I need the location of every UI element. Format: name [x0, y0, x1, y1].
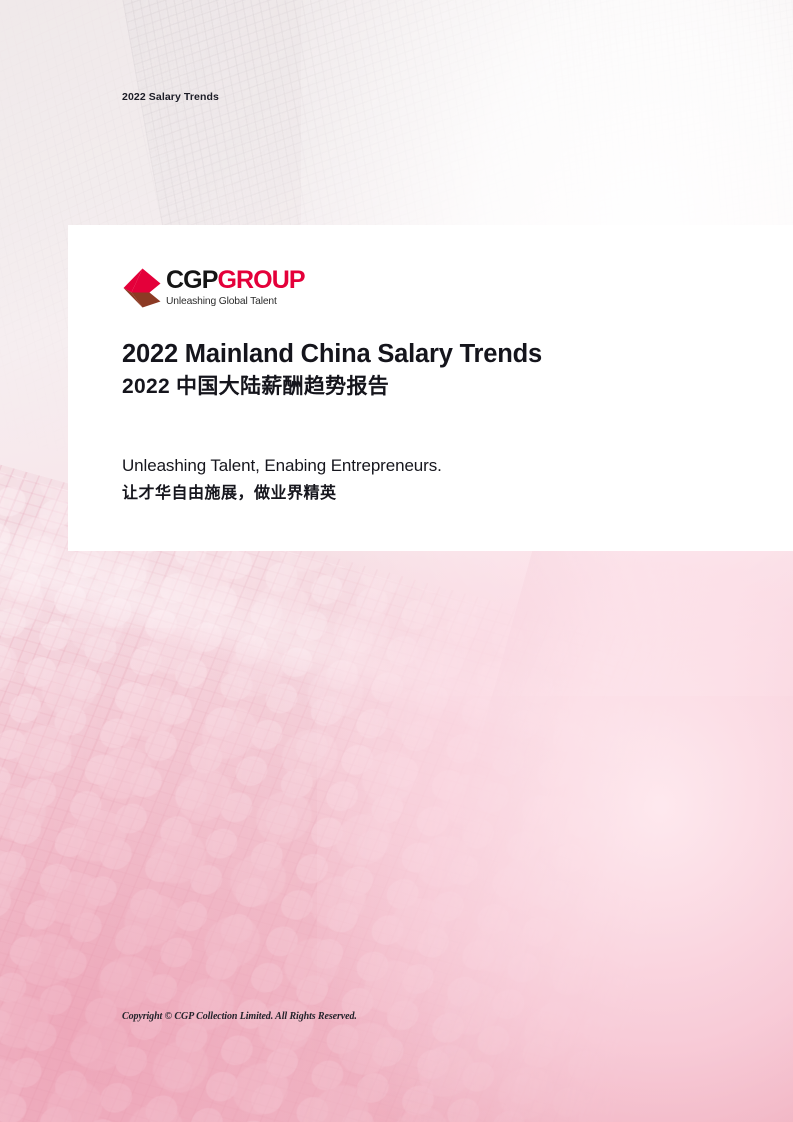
cover-tagline-english: Unleashing Talent, Enabing Entrepreneurs…	[122, 455, 442, 478]
logo-word-row: CGPGROUP	[166, 268, 305, 293]
logo-wordmark: CGPGROUP Unleashing Global Talent	[166, 266, 305, 307]
cgp-chevron-mark-icon	[122, 267, 162, 309]
logo-tagline: Unleashing Global Talent	[166, 297, 305, 307]
logo-word-cgp: CGP	[166, 266, 217, 294]
background-right-pink-wash	[317, 494, 793, 1122]
logo-word-group: GROUP	[217, 266, 304, 294]
cover-tagline-block: Unleashing Talent, Enabing Entrepreneurs…	[122, 455, 442, 505]
cover-tagline-chinese: 让才华自由施展，做业界精英	[122, 482, 442, 505]
background-architecture-photo	[0, 0, 793, 1122]
cgp-group-logo: CGPGROUP Unleashing Global Talent	[122, 266, 305, 309]
cover-content-panel: CGPGROUP Unleashing Global Talent 2022 M…	[68, 225, 793, 551]
cover-title-block: 2022 Mainland China Salary Trends 2022 中…	[122, 339, 542, 400]
running-header-label: 2022 Salary Trends	[122, 91, 219, 103]
cover-page: 2022 Salary Trends CGPGROUP Unleashing G…	[0, 0, 793, 1122]
cover-title-chinese: 2022 中国大陆薪酬趋势报告	[122, 373, 542, 400]
footer-copyright: Copyright © CGP Collection Limited. All …	[122, 1011, 357, 1022]
cover-title-english: 2022 Mainland China Salary Trends	[122, 339, 542, 369]
